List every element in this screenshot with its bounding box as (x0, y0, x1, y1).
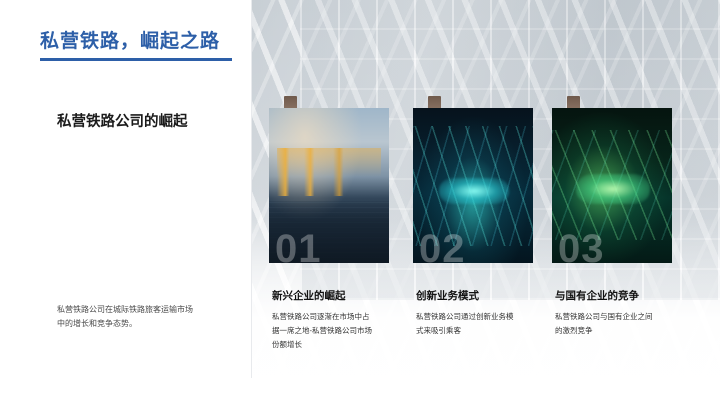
card-title: 与国有企业的竞争 (555, 288, 639, 303)
section-heading: 私营铁路公司的崛起 (57, 112, 217, 134)
glowing-bridge-photo (413, 108, 533, 263)
content-card[interactable]: 03 (552, 108, 672, 263)
section-description: 私营铁路公司在城际铁路旅客运输市场中的增长和竞争态势。 (57, 303, 197, 331)
port-cranes-photo (269, 108, 389, 263)
card-body: 私营铁路公司逐渐在市场中占据一席之地-私营铁路公司市场份额增长 (272, 310, 376, 352)
card-title: 新兴企业的崛起 (272, 288, 346, 303)
card-title: 创新业务模式 (416, 288, 479, 303)
card-body: 私营铁路公司通过创新业务模式来吸引乘客 (416, 310, 520, 338)
content-card[interactable]: 02 (413, 108, 533, 263)
presentation-slide: 私营铁路，崛起之路 私营铁路公司的崛起 私营铁路公司在城际铁路旅客运输市场中的增… (0, 0, 720, 404)
content-card[interactable]: 01 (269, 108, 389, 263)
bottom-white-band (0, 378, 720, 404)
card-body: 私营铁路公司与国有企业之间的激烈竞争 (555, 310, 659, 338)
title-underline (40, 58, 232, 61)
glowing-car-photo (552, 108, 672, 263)
page-title: 私营铁路，崛起之路 (40, 26, 220, 53)
